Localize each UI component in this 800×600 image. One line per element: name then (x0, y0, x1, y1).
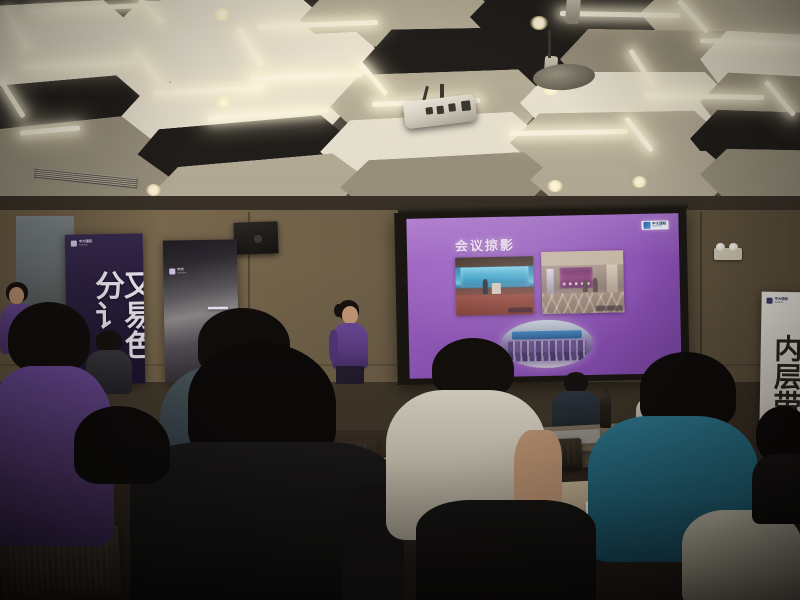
presenter-head (342, 306, 358, 324)
banner-logo-line2: Nutrition (775, 301, 789, 304)
logo-line2: Nutrition (652, 225, 666, 228)
banner-logo-line2: Nutrition (79, 244, 93, 247)
audience-member (74, 406, 170, 536)
projector-vent (448, 103, 456, 112)
conference-room-photo: 会议掠影 中大国际 Nutrition (0, 0, 800, 600)
presenter (328, 300, 372, 384)
audience-hair (74, 406, 170, 484)
projector-lens (461, 101, 471, 112)
audience-hair (96, 330, 122, 352)
audience-hair (8, 302, 90, 374)
slide-photo-group (501, 319, 594, 369)
ceiling-spotlight (214, 8, 230, 21)
slide-photo-lobby (541, 250, 624, 314)
ceiling-spotlight (216, 96, 231, 108)
logo-mark-icon (767, 298, 773, 304)
presenter-lower (336, 366, 364, 384)
projector-mount-rod (440, 84, 444, 98)
banner-logo: 中大国际 Nutrition (767, 298, 789, 304)
audience-hair (564, 372, 588, 393)
projector-vent (436, 105, 444, 114)
downlight-rod (548, 30, 551, 58)
audience-member (756, 406, 800, 516)
ceiling-spotlight (530, 16, 548, 30)
presenter-arm (329, 330, 338, 362)
logo-mark-icon (643, 222, 650, 229)
logo-mark-icon (169, 268, 175, 274)
slide-title: 会议掠影 (455, 235, 515, 255)
ceiling-spotlight (146, 184, 161, 196)
emergency-light (714, 248, 742, 260)
banner-logo: 中大国际 Nutrition (71, 240, 93, 246)
projector-vent (425, 107, 433, 115)
banner-logo-line2: Nutrition (177, 272, 186, 275)
ceiling-spotlight (632, 176, 647, 188)
audience-head (9, 287, 24, 304)
ceiling-spotlight (547, 180, 563, 192)
audience-member-foreground (416, 500, 596, 600)
slide-photo-stage (455, 256, 534, 316)
audience-torso (416, 500, 596, 600)
logo-text: 中大国际 Nutrition (652, 222, 666, 228)
track-downlight (565, 0, 581, 24)
wall-speaker (233, 221, 278, 255)
audience-torso (752, 454, 800, 524)
banner-logo: 中大 Nutrition (169, 268, 186, 274)
logo-mark-icon (71, 240, 77, 246)
slide-logo: 中大国际 Nutrition (641, 220, 669, 230)
